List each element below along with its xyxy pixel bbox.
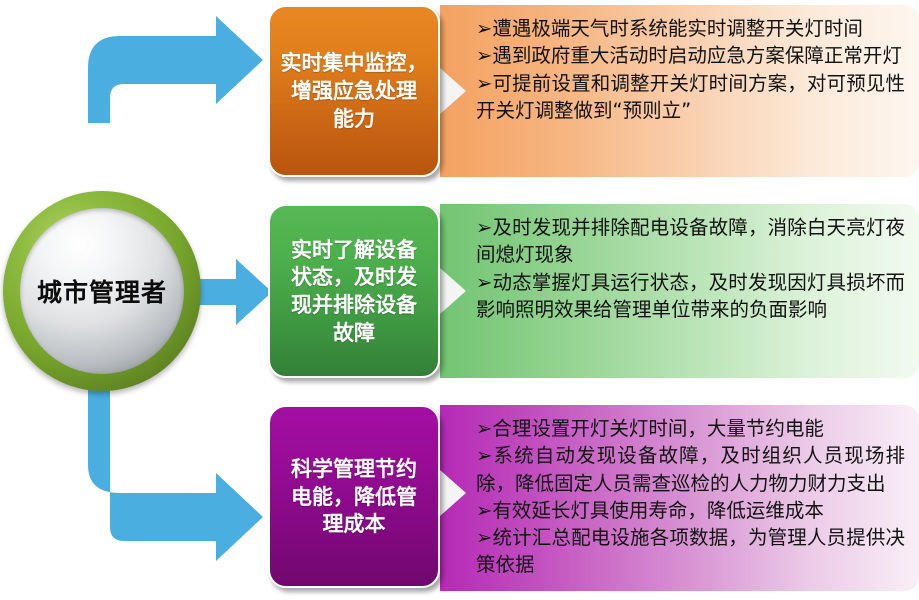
diagram-canvas: ➢遭遇极端天气时系统能实时调整开关灯时间 ➢遇到政府重大活动时启动应急方案保障正… — [0, 0, 919, 600]
title-box-cost-saving[interactable]: 科学管理节约 电能，降低管 理成本 — [268, 405, 440, 588]
chevron-icon-monitoring — [440, 68, 466, 114]
title-text-monitoring: 实时集中监控， 增强应急处理 能力 — [275, 49, 434, 132]
detail-panel-monitoring: ➢遭遇极端天气时系统能实时调整开关灯时间 ➢遇到政府重大活动时启动应急方案保障正… — [440, 5, 919, 177]
detail-text-monitoring: ➢遭遇极端天气时系统能实时调整开关灯时间 ➢遇到政府重大活动时启动应急方案保障正… — [476, 15, 905, 124]
title-text-cost-saving: 科学管理节约 电能，降低管 理成本 — [285, 455, 423, 538]
detail-panel-equipment-status: ➢及时发现并排除配电设备故障，消除白天亮灯夜间熄灯现象 ➢动态掌握灯具运行状态，… — [440, 204, 919, 378]
detail-text-equipment-status: ➢及时发现并排除配电设备故障，消除白天亮灯夜间熄灯现象 ➢动态掌握灯具运行状态，… — [476, 214, 905, 323]
title-text-equipment-status: 实时了解设备 状态，及时发 现并排除设备 故障 — [285, 236, 423, 347]
hub-circle[interactable]: 城市管理者 — [3, 191, 201, 391]
chevron-icon-cost-saving — [440, 470, 466, 516]
chevron-icon-equipment-status — [440, 268, 466, 314]
title-box-equipment-status[interactable]: 实时了解设备 状态，及时发 现并排除设备 故障 — [268, 204, 440, 378]
title-box-monitoring[interactable]: 实时集中监控， 增强应急处理 能力 — [268, 5, 440, 177]
hub-label: 城市管理者 — [37, 273, 167, 309]
detail-text-cost-saving: ➢合理设置开灯关灯时间，大量节约电能 ➢系统自动发现设备故障，及时组织人员现场排… — [476, 415, 905, 579]
detail-panel-cost-saving: ➢合理设置开灯关灯时间，大量节约电能 ➢系统自动发现设备故障，及时组织人员现场排… — [440, 405, 919, 591]
hub-inner-face: 城市管理者 — [20, 208, 184, 374]
